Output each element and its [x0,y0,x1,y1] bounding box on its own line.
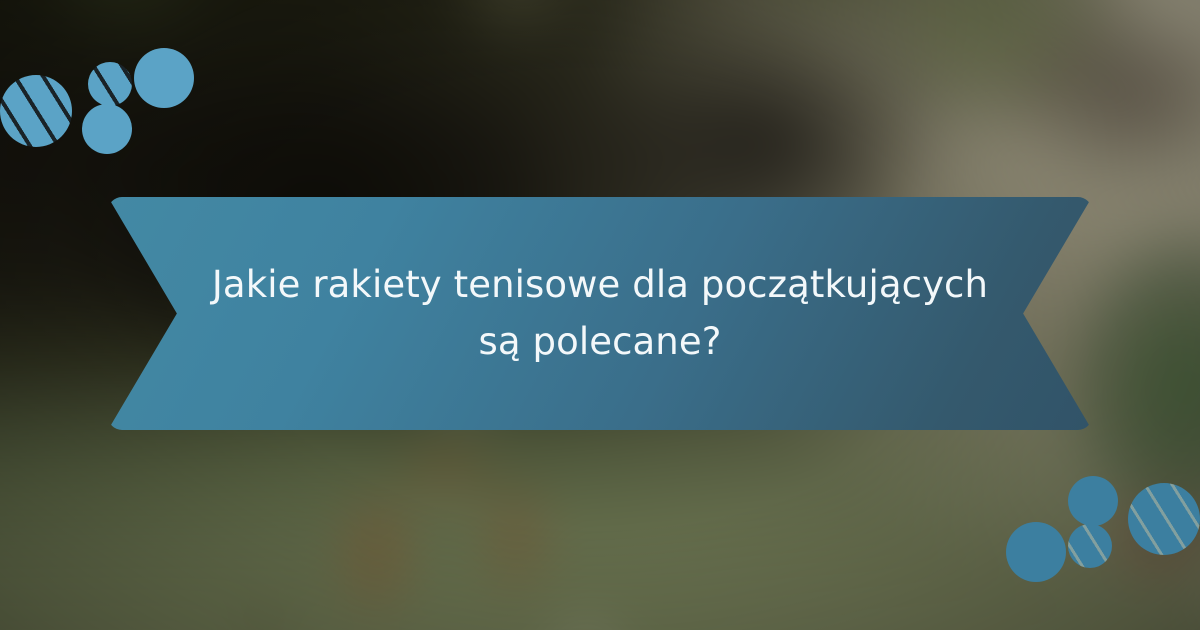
decor-circle-large-striped [1128,483,1200,555]
decoration-cluster-top-left [0,20,210,170]
headline-ribbon: Jakie rakiety tenisowe dla początkującyc… [108,197,1092,430]
headline-text: Jakie rakiety tenisowe dla początkującyc… [210,257,990,369]
decor-circle-large-plain [1006,522,1066,582]
decoration-cluster-bottom-right [990,460,1200,610]
decor-circle-mid-plain [82,104,132,154]
decor-circle-small-striped [1068,524,1112,568]
decor-circle-small-striped [88,62,132,106]
decor-circle-large-plain [134,48,194,108]
decor-circle-large-striped [0,75,72,147]
decor-circle-mid-plain [1068,476,1118,526]
social-card: Jakie rakiety tenisowe dla początkującyc… [0,0,1200,630]
